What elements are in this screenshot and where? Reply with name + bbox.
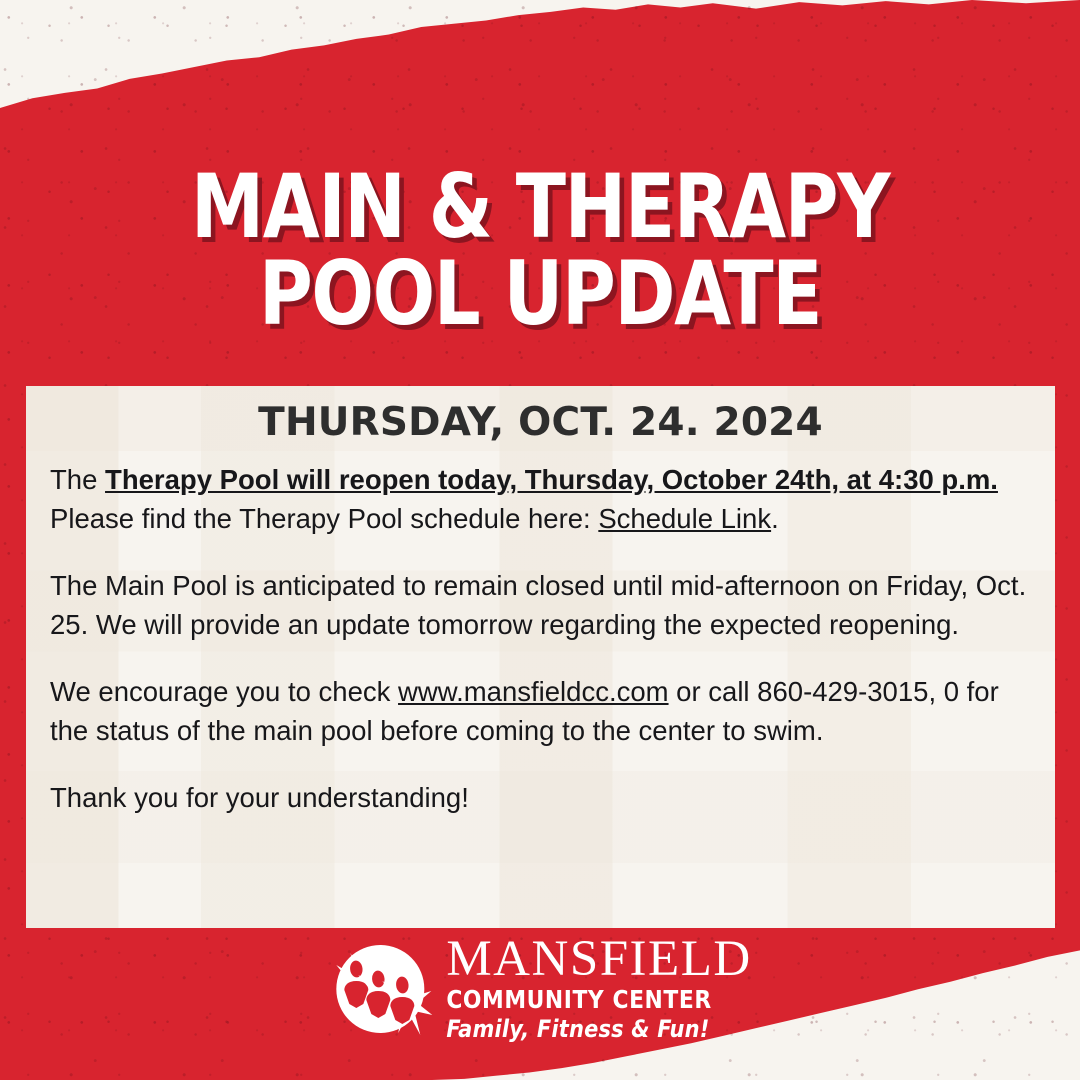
announcement-body: The Therapy Pool will reopen today, Thur…: [50, 460, 1035, 817]
paragraph-check-status: We encourage you to check www.mansfieldc…: [50, 672, 1035, 750]
three-figures-circle-icon: [328, 937, 432, 1041]
paragraph-main-pool-closed: The Main Pool is anticipated to remain c…: [50, 566, 1035, 644]
logo-text-lockup: MANSFIELD COMMUNITY CENTER Family, Fitne…: [446, 934, 751, 1044]
text-run: .: [771, 503, 779, 534]
date-heading: THURSDAY, OCT. 24. 2024: [26, 400, 1055, 445]
announcement-card: THURSDAY, OCT. 24. 2024 The Therapy Pool…: [26, 386, 1055, 928]
text-run: The Main Pool is anticipated to remain c…: [50, 570, 1026, 640]
link-www-mansfieldcc-com[interactable]: www.mansfieldcc.com: [398, 676, 669, 707]
poster: MAIN & THERAPY POOL UPDATE THURSDAY, OCT…: [0, 0, 1080, 1080]
link-schedule-link[interactable]: Schedule Link: [598, 503, 771, 534]
text-run: We encourage you to check: [50, 676, 398, 707]
mansfield-community-center-logo: MANSFIELD COMMUNITY CENTER Family, Fitne…: [328, 934, 751, 1044]
text-run: Thank you for your understanding!: [50, 782, 469, 813]
text-run: Please find the Therapy Pool schedule he…: [50, 503, 598, 534]
emphasis-text: Therapy Pool will reopen today, Thursday…: [105, 464, 998, 495]
logo-name: MANSFIELD: [446, 934, 751, 985]
paragraph-therapy-pool-reopen: The Therapy Pool will reopen today, Thur…: [50, 460, 1035, 538]
text-run: The: [50, 464, 105, 495]
logo-tagline: Family, Fitness & Fun!: [446, 1015, 709, 1044]
paragraph-thank-you: Thank you for your understanding!: [50, 778, 1035, 817]
logo-subtitle: COMMUNITY CENTER: [446, 985, 711, 1015]
page-title: MAIN & THERAPY POOL UPDATE: [38, 163, 1042, 337]
